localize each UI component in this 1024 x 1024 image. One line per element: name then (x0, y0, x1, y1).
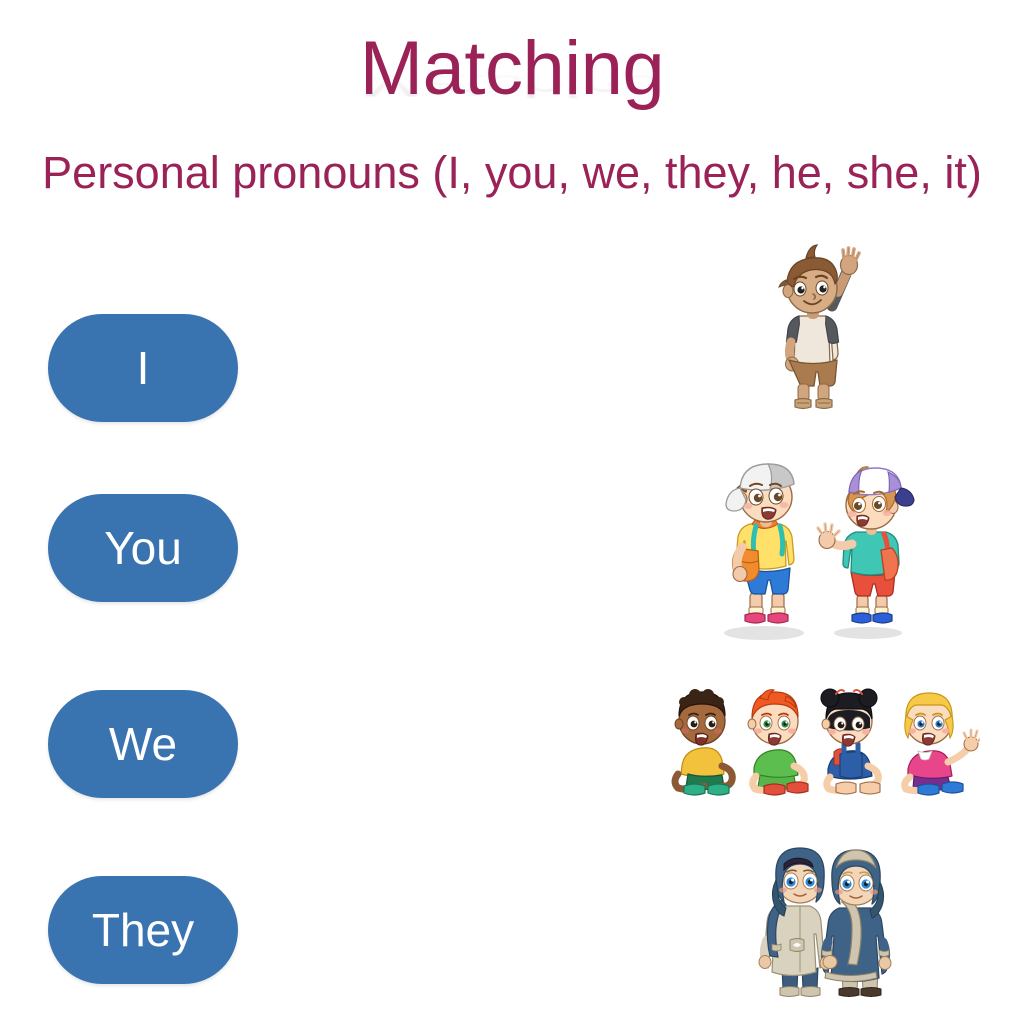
slide-title-text: Matching (360, 30, 664, 108)
four-children-sitting-illustration[interactable] (668, 674, 980, 800)
pronoun-button-i[interactable]: I (48, 314, 238, 422)
slide-subtitle: Personal pronouns (I, you, we, they, he,… (0, 146, 1024, 206)
boy-raising-hand-illustration[interactable] (760, 244, 870, 419)
pronoun-button-we[interactable]: We (48, 690, 238, 798)
pronoun-button-label: They (92, 907, 194, 953)
page-title: Matching (0, 30, 1024, 108)
pronoun-button-label: We (109, 721, 177, 767)
two-children-talking-illustration[interactable] (702, 452, 930, 644)
pronoun-button-label: I (137, 345, 150, 391)
slide-subtitle-text: Personal pronouns (I, you, we, they, he,… (42, 146, 982, 199)
pronoun-button-you[interactable]: You (48, 494, 238, 602)
pronoun-button-label: You (104, 525, 182, 571)
pronoun-button-they[interactable]: They (48, 876, 238, 984)
two-children-holding-hands-illustration[interactable] (738, 840, 910, 1012)
slide-canvas: Matching Matching Personal pronouns (I, … (0, 0, 1024, 1024)
